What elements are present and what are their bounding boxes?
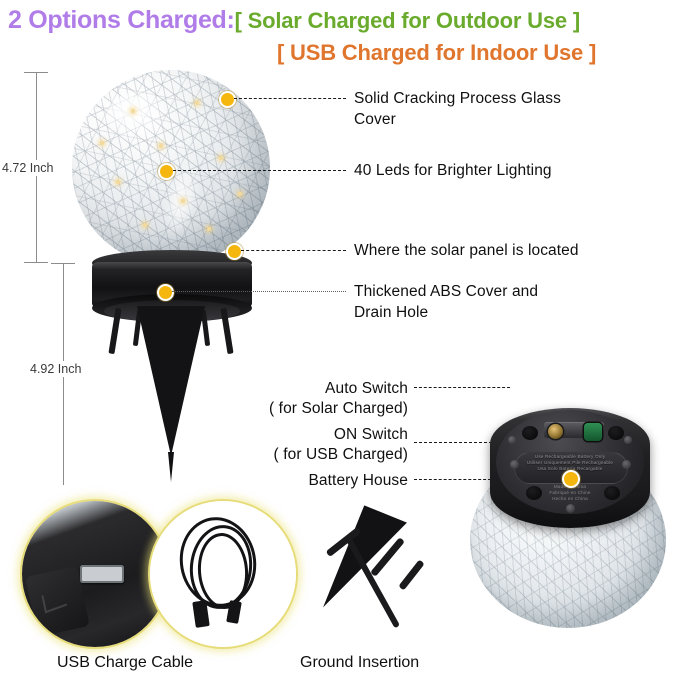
on-switch[interactable] [584,423,602,441]
page-title: 2 Options Charged: [8,6,235,34]
product-infographic: 2 Options Charged:[ Solar Charged for Ou… [0,0,679,678]
ground-stake-cone [137,306,205,456]
micro-usb-plug [226,600,242,624]
callout-leds: 40 Leds for Brighter Lighting [354,160,674,181]
led-light [238,192,242,196]
badge-solar-charged: [ Solar Charged for Outdoor Use ] [235,8,580,33]
led-light [116,180,120,184]
leader-solar-panel [241,250,346,251]
led-light [219,156,223,160]
drain-hole [566,504,575,513]
callout-solar-panel: Where the solar panel is located [354,240,679,261]
hotspot-solar-panel[interactable] [226,243,243,260]
dim-globe-cap-bottom [24,262,48,263]
hotspot-leds[interactable] [158,163,175,180]
callout-auto-switch-sub: ( for Solar Charged) [218,398,408,419]
leader-leds [173,170,346,171]
auto-switch[interactable] [548,424,563,439]
screw-hole [608,426,624,440]
leader-glass-cover [234,98,346,99]
header-line-1: 2 Options Charged:[ Solar Charged for Ou… [8,6,580,35]
usb-cable-photo [150,501,296,647]
ground-stake-tip [168,452,174,482]
base-detail-housing: Use Rechargeable Battery Only Utiliser U… [490,408,650,528]
usb-port-slot [80,565,124,583]
screw-hole [604,486,620,500]
caption-ground-insertion: Ground Insertion [300,654,419,672]
hotspot-abs-cover[interactable] [157,284,174,301]
caption-usb-charge-cable: USB Charge Cable [57,654,193,672]
screw [624,436,632,444]
badge-usb-charged: [ USB Charged for Indoor Use ] [277,40,596,65]
led-light [207,227,211,231]
hotspot-battery-house[interactable] [562,470,580,488]
spike-rib [398,559,424,590]
callout-battery-house: Battery House [218,470,408,491]
callout-auto-switch-title: Auto Switch [218,378,408,399]
screw-hole [522,426,538,440]
leader-battery-house [414,479,496,480]
header-line-2: [ USB Charged for Indoor Use ] [277,40,596,66]
led-light [100,141,104,145]
screw [508,436,516,444]
globe-highlight [104,92,171,143]
dim-stake-label: 4.92 Inch [28,361,83,377]
leader-auto-switch [414,387,510,388]
callout-glass-cover: Solid Cracking Process Glass Cover [354,88,674,130]
photo-ground-insertion [320,500,460,640]
screw [510,460,519,469]
dim-globe-label: 4.72 Inch [0,160,55,176]
leader-abs-cover [172,291,346,292]
callout-on-switch-sub: ( for USB Charged) [218,444,408,465]
usb-logo-icon [41,588,67,613]
callout-abs-cover: Thickened ABS Cover and Drain Hole [354,281,674,323]
hotspot-glass-cover[interactable] [219,91,236,108]
usb-port-photo [22,501,168,647]
photo-usb-cable [148,499,298,649]
screw [622,460,631,469]
leader-on-switch [414,442,502,443]
base-detail-face: Use Rechargeable Battery Only Utiliser U… [496,410,644,514]
callout-on-switch-title: ON Switch [218,424,408,445]
